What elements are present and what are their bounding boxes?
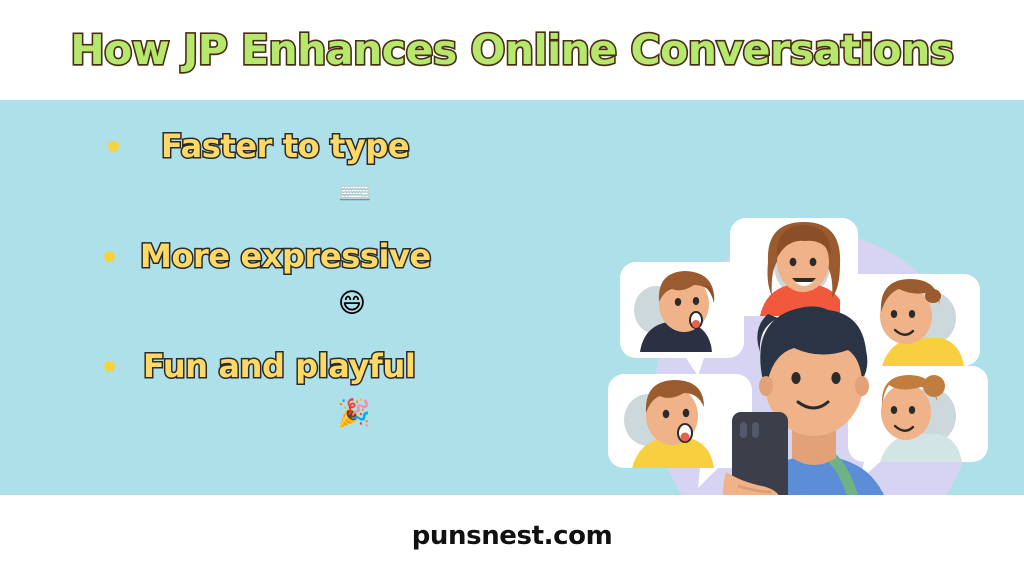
benefit-list: Faster to type ⌨️ More expressive 😄 Fun … — [0, 118, 560, 478]
keyboard-emoji: ⌨️ — [150, 180, 560, 207]
page-title: How JP Enhances Online Conversations — [70, 26, 953, 74]
bullet-dot-icon — [108, 141, 119, 152]
list-item: Fun and playful 🎉 — [0, 338, 560, 448]
bullet-line: Faster to type — [0, 118, 560, 174]
bullet-line: Fun and playful — [0, 338, 560, 394]
bullet-dot-icon — [104, 251, 115, 262]
benefit-label: More expressive — [140, 237, 431, 275]
site-name: punsnest.com — [412, 521, 613, 551]
content-panel: Faster to type ⌨️ More expressive 😄 Fun … — [0, 100, 1024, 495]
list-item: Faster to type ⌨️ — [0, 118, 560, 228]
bullet-line: More expressive — [0, 228, 560, 284]
benefit-label: Fun and playful — [143, 347, 415, 385]
list-item: More expressive 😄 — [0, 228, 560, 338]
footer-band: punsnest.com — [0, 495, 1024, 576]
grinning-face-emoji: 😄 — [144, 290, 560, 317]
bullet-dot-icon — [104, 361, 115, 372]
party-popper-emoji: 🎉 — [148, 400, 560, 427]
benefit-label: Faster to type — [161, 127, 409, 165]
poster-canvas: How JP Enhances Online Conversations Fas… — [0, 0, 1024, 576]
title-band: How JP Enhances Online Conversations — [0, 0, 1024, 100]
